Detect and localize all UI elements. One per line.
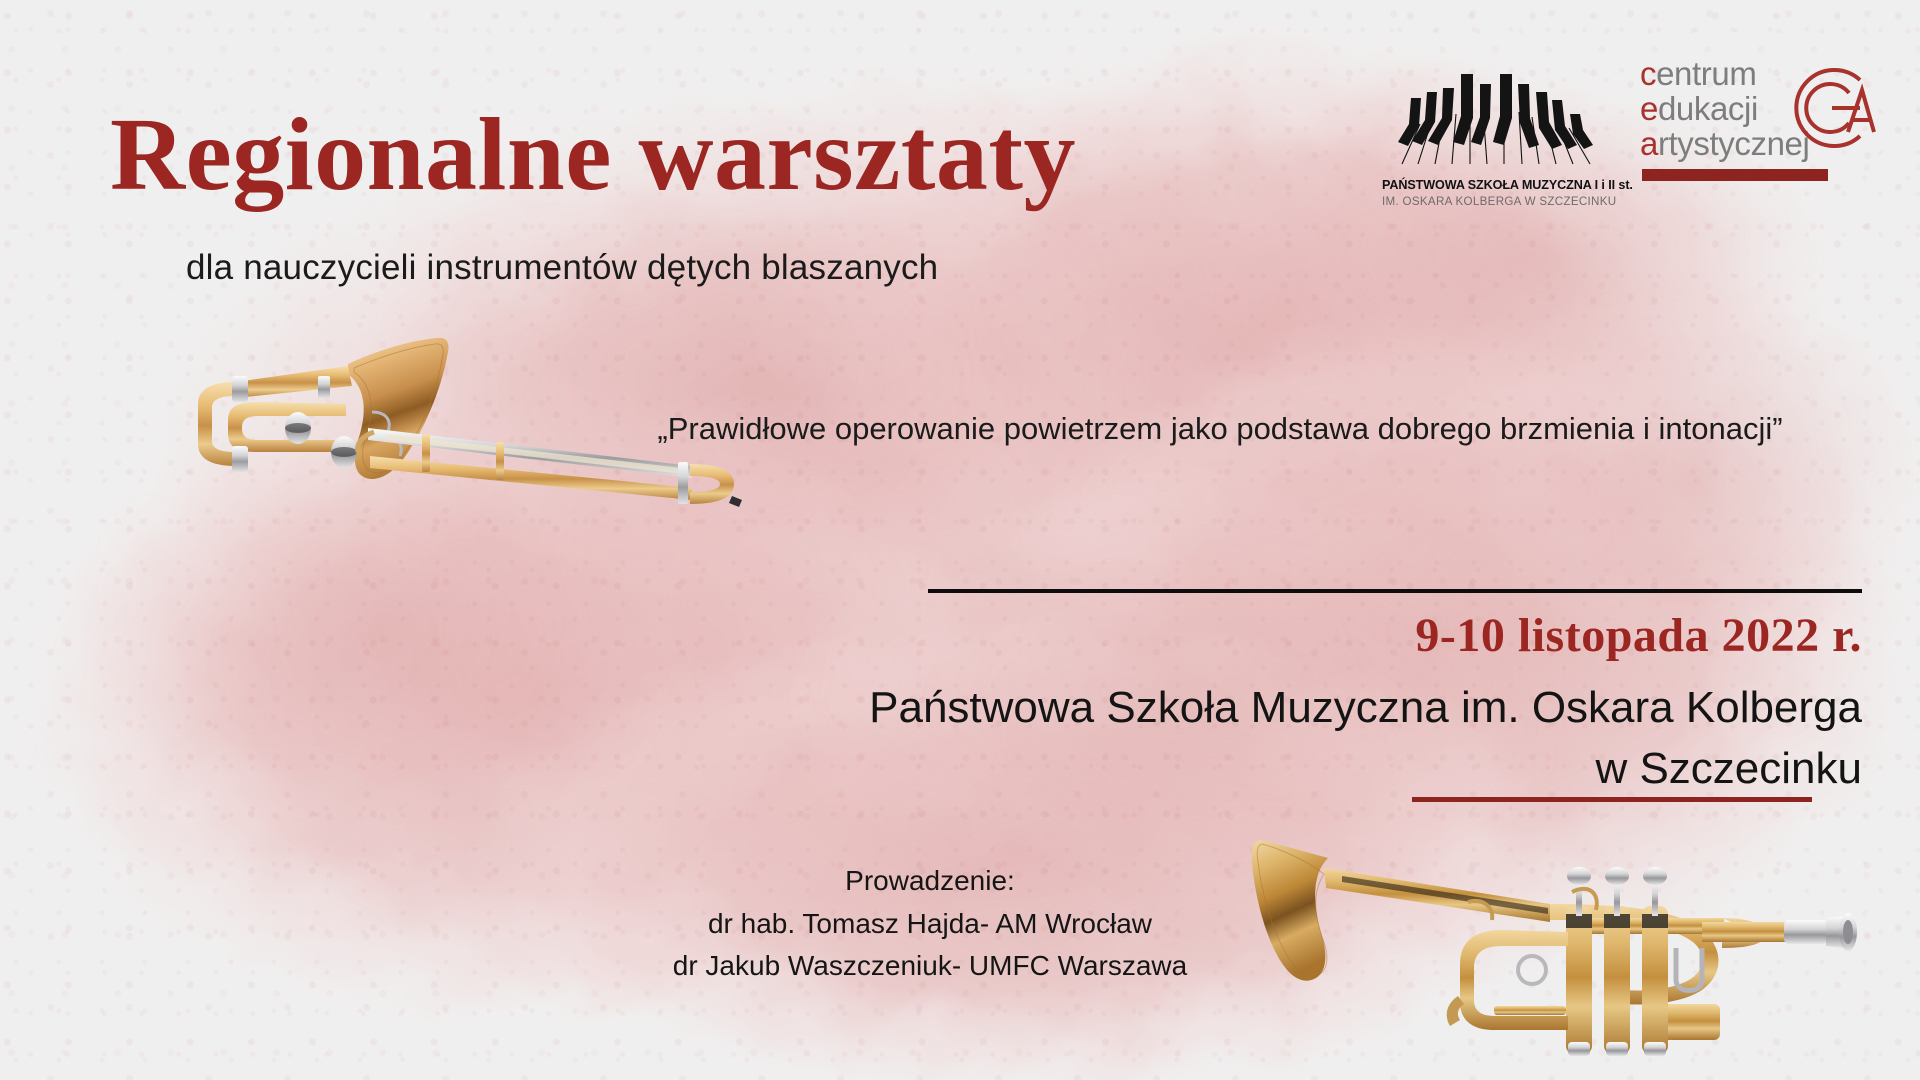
- cea-logo: centrum edukacji artystycznej: [1640, 56, 1880, 186]
- school-logo: PAŃSTWOWA SZKOŁA MUZYCZNA I i II st. IM.…: [1382, 62, 1614, 210]
- cea-line-1-initial: c: [1640, 55, 1656, 92]
- piano-keys-icon: [1382, 62, 1614, 174]
- poster-canvas: Regionalne warsztaty dla nauczycieli ins…: [0, 0, 1920, 1080]
- workshop-quote: „Prawidłowe operowanie powietrzem jako p…: [580, 405, 1860, 453]
- divider-bottom: [1412, 797, 1812, 802]
- event-venue: Państwowa Szkoła Muzyczna im. Oskara Kol…: [602, 678, 1862, 799]
- divider-top: [928, 589, 1862, 593]
- cea-line-2-rest: dukacji: [1658, 90, 1758, 127]
- cea-line-3-initial: a: [1640, 125, 1658, 162]
- event-date: 9-10 listopada 2022 r.: [1415, 608, 1862, 663]
- cea-line-1: centrum: [1640, 56, 1809, 91]
- hosts-label: Prowadzenie:: [620, 860, 1240, 903]
- host-name: dr hab. Tomasz Hajda- AM Wrocław: [620, 903, 1240, 946]
- trumpet-illustration: [1232, 818, 1892, 1068]
- host-name: dr Jakub Waszczeniuk- UMFC Warszawa: [620, 945, 1240, 988]
- cea-logo-wordmark: centrum edukacji artystycznej: [1640, 56, 1809, 161]
- poster-subtitle: dla nauczycieli instrumentów dętych blas…: [186, 248, 938, 288]
- cea-line-1-rest: entrum: [1656, 55, 1756, 92]
- cea-line-2: edukacji: [1640, 91, 1809, 126]
- cea-line-2-initial: e: [1640, 90, 1658, 127]
- venue-line-1: Państwowa Szkoła Muzyczna im. Oskara Kol…: [602, 678, 1862, 739]
- cea-logo-bar: [1642, 169, 1828, 181]
- cea-monogram-icon: [1786, 62, 1878, 154]
- school-logo-patron: IM. OSKARA KOLBERGA W SZCZECINKU: [1382, 195, 1614, 208]
- venue-line-2: w Szczecinku: [602, 739, 1862, 800]
- poster-title: Regionalne warsztaty: [110, 103, 1076, 207]
- cea-line-3: artystycznej: [1640, 126, 1809, 161]
- hosts-block: Prowadzenie: dr hab. Tomasz Hajda- AM Wr…: [620, 860, 1240, 988]
- school-logo-name: PAŃSTWOWA SZKOŁA MUZYCZNA I i II st.: [1382, 178, 1614, 192]
